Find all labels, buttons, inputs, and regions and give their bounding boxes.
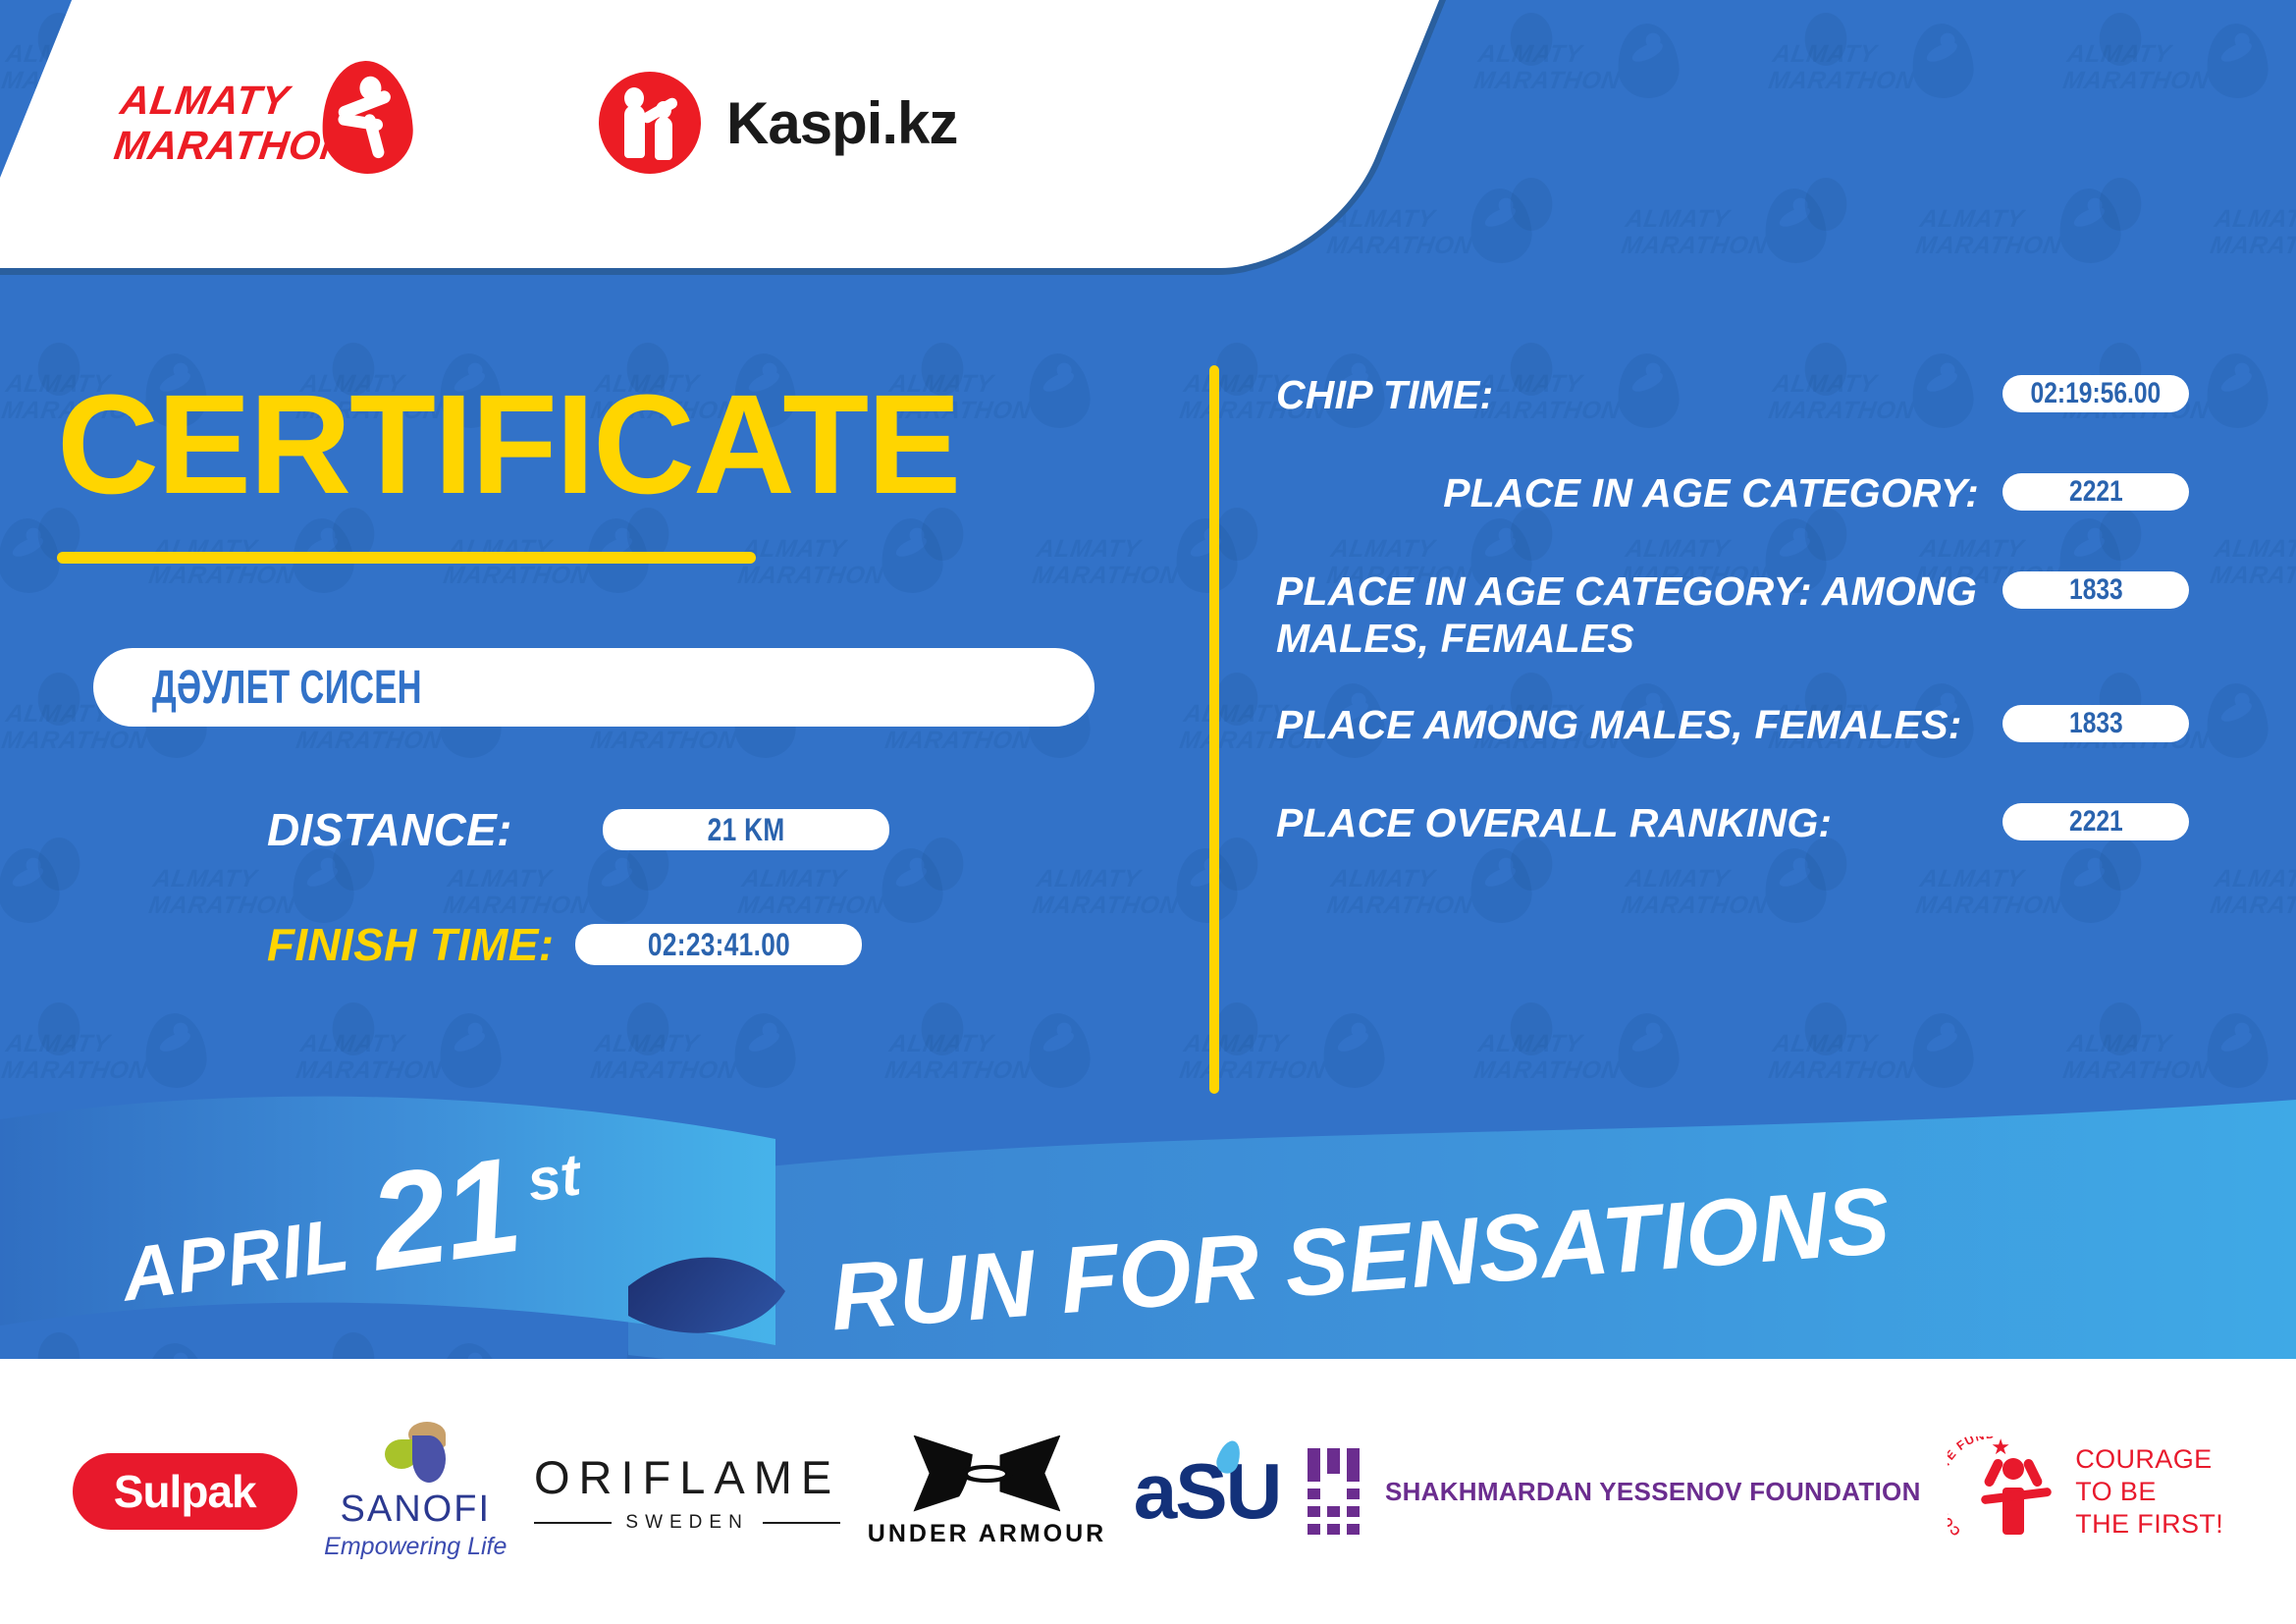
header-logos: ALMATY MARATHON Kaspi.kz (118, 59, 957, 187)
participant-name-value: ДӘУЛЕТ СИСЕН (152, 661, 422, 715)
distance-value-pill: 21 KM (603, 809, 889, 850)
sanofi-wordmark: SANOFI (324, 1489, 507, 1531)
watermark-tile: ALMATYMARATHON (1914, 165, 2209, 330)
title-underline (57, 552, 756, 564)
stat-value: 02:19:56.00 (2031, 377, 2162, 410)
under-armour-wordmark: UNDER ARMOUR (868, 1520, 1106, 1548)
sponsor-corporate-fund: CORPORATE FUND ★ COURAGETO BETHE FIRST! (1948, 1436, 2223, 1546)
asu-wordmark: aSU (1134, 1446, 1281, 1537)
sanofi-icon (379, 1422, 452, 1483)
corporate-fund-wordmark: COURAGETO BETHE FIRST! (2075, 1443, 2223, 1541)
finish-time-label: FINISH TIME: (267, 918, 554, 971)
finish-time-value: 02:23:41.00 (648, 927, 790, 963)
watermark-tile: ALMATYMARATHON (2209, 165, 2296, 330)
corporate-fund-icon: CORPORATE FUND ★ (1948, 1436, 2057, 1546)
kaspi-people-icon (599, 72, 701, 174)
under-armour-icon (913, 1435, 1060, 1512)
watermark-tile: ALMATYMARATHON (1767, 0, 2061, 165)
sponsor-sanofi: SANOFI Empowering Life (324, 1422, 507, 1561)
watermark-tile: ALMATYMARATHON (1620, 165, 1914, 330)
oriflame-rule-right (763, 1522, 840, 1524)
stat-value-pill: 1833 (2002, 705, 2189, 742)
almaty-marathon-logo: ALMATY MARATHON (118, 59, 432, 187)
stat-label: PLACE IN AGE CATEGORY: (1276, 469, 1979, 516)
sponsor-asu: aSU (1134, 1446, 1281, 1537)
sponsor-yessenov: SHAKHMARDAN YESSENOV FOUNDATION (1308, 1448, 1921, 1535)
vertical-divider (1209, 365, 1219, 1094)
yessenov-icon (1308, 1448, 1360, 1535)
sponsor-under-armour: UNDER ARMOUR (868, 1435, 1106, 1548)
runner-drop-icon (319, 59, 415, 177)
stats-panel: CHIP TIME:02:19:56.00PLACE IN AGE CATEGO… (1276, 371, 2189, 897)
stat-label: PLACE AMONG MALES, FEMALES: (1276, 701, 1979, 748)
sponsor-bar: Sulpak SANOFI Empowering Life ORIFLAME S… (0, 1359, 2296, 1624)
watermark-tile: ALMATYMARATHON (1472, 0, 1767, 165)
stat-value: 1833 (2069, 707, 2123, 740)
page-title: CERTIFICATE (57, 371, 959, 518)
stat-value-pill: 02:19:56.00 (2002, 375, 2189, 412)
sulpak-wordmark: Sulpak (73, 1453, 297, 1530)
participant-name-field: ДӘУЛЕТ СИСЕН (93, 648, 1095, 727)
asu-text: aSU (1134, 1447, 1281, 1535)
distance-label: DISTANCE: (267, 803, 512, 856)
yessenov-wordmark: SHAKHMARDAN YESSENOV FOUNDATION (1385, 1475, 1921, 1508)
stat-label: CHIP TIME: (1276, 371, 1979, 418)
sponsor-sulpak: Sulpak (73, 1453, 297, 1530)
sponsor-oriflame: ORIFLAME SWEDEN (534, 1450, 840, 1534)
event-day: 21 (363, 1146, 525, 1283)
almaty-marathon-line2: MARATHON (112, 123, 354, 168)
certificate-canvas: ALMATYMARATHONALMATYMARATHONALMATYMARATH… (0, 0, 2296, 1624)
finish-time-value-pill: 02:23:41.00 (575, 924, 862, 965)
stat-value-pill: 2221 (2002, 803, 2189, 840)
stat-row: PLACE IN AGE CATEGORY:2221 (1276, 469, 2189, 528)
oriflame-rule-left (534, 1522, 612, 1524)
sanofi-tagline: Empowering Life (324, 1533, 507, 1561)
watermark-tile: ALMATYMARATHON (2061, 0, 2296, 165)
stat-value: 1833 (2069, 573, 2123, 607)
watermark-tile: ALMATYMARATHON (1325, 165, 1620, 330)
stat-row: PLACE OVERALL RANKING:2221 (1276, 799, 2189, 858)
watermark-tile: ALMATYMARATHON (2209, 825, 2296, 990)
distance-row: DISTANCE: 21 KM (267, 803, 889, 856)
stat-value-pill: 1833 (2002, 571, 2189, 609)
event-day-suffix: st (523, 1140, 584, 1215)
kaspi-logo: Kaspi.kz (599, 72, 957, 174)
stat-label: PLACE OVERALL RANKING: (1276, 799, 1979, 846)
oriflame-wordmark: ORIFLAME (534, 1450, 840, 1504)
stat-row: PLACE IN AGE CATEGORY: AMONG MALES, FEMA… (1276, 568, 2189, 662)
stat-row: CHIP TIME:02:19:56.00 (1276, 371, 2189, 430)
watermark-tile: ALMATYMARATHON (0, 825, 147, 990)
oriflame-tagline: SWEDEN (625, 1512, 748, 1534)
distance-value: 21 KM (707, 812, 784, 848)
kaspi-wordmark: Kaspi.kz (726, 89, 957, 157)
stat-value: 2221 (2069, 475, 2123, 509)
stat-label: PLACE IN AGE CATEGORY: AMONG MALES, FEMA… (1276, 568, 1979, 662)
watermark-tile: ALMATYMARATHON (2209, 495, 2296, 660)
stat-value-pill: 2221 (2002, 473, 2189, 511)
finish-time-row: FINISH TIME: 02:23:41.00 (267, 918, 862, 971)
stat-value: 2221 (2069, 805, 2123, 839)
stat-row: PLACE AMONG MALES, FEMALES:1833 (1276, 701, 2189, 760)
